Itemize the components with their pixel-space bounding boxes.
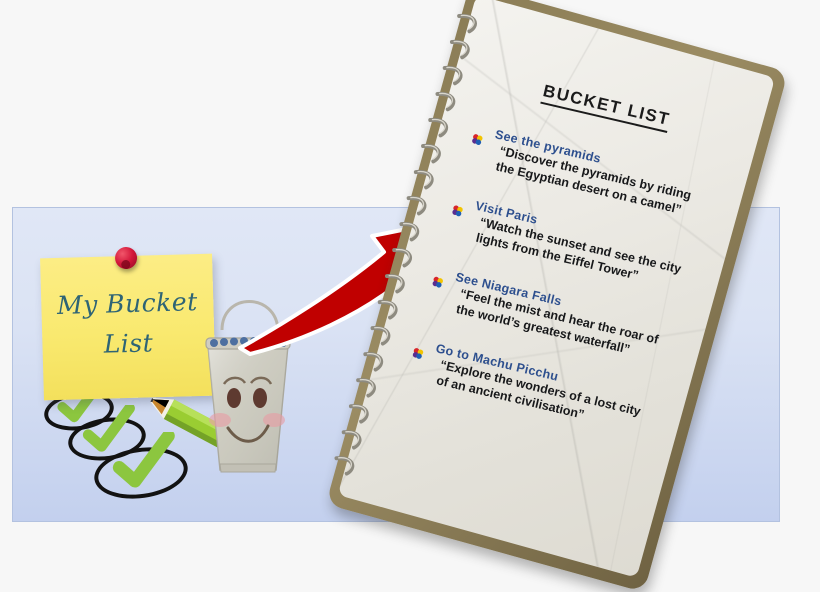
pushpin-icon xyxy=(115,247,138,270)
clover-bullet-icon xyxy=(470,133,483,146)
clover-bullet-icon xyxy=(431,276,444,289)
illustration-canvas: My Bucket List xyxy=(0,0,820,584)
sticky-note-text: My Bucket List xyxy=(41,282,215,367)
clover-bullet-icon xyxy=(411,347,424,360)
check-icon xyxy=(109,432,177,491)
clover-bullet-icon xyxy=(451,204,464,217)
sticky-note-line-2: List xyxy=(42,322,215,367)
sticky-note-line-1: My Bucket xyxy=(41,282,214,327)
checklist-item-3 xyxy=(94,448,188,498)
sticky-note: My Bucket List xyxy=(40,254,216,401)
